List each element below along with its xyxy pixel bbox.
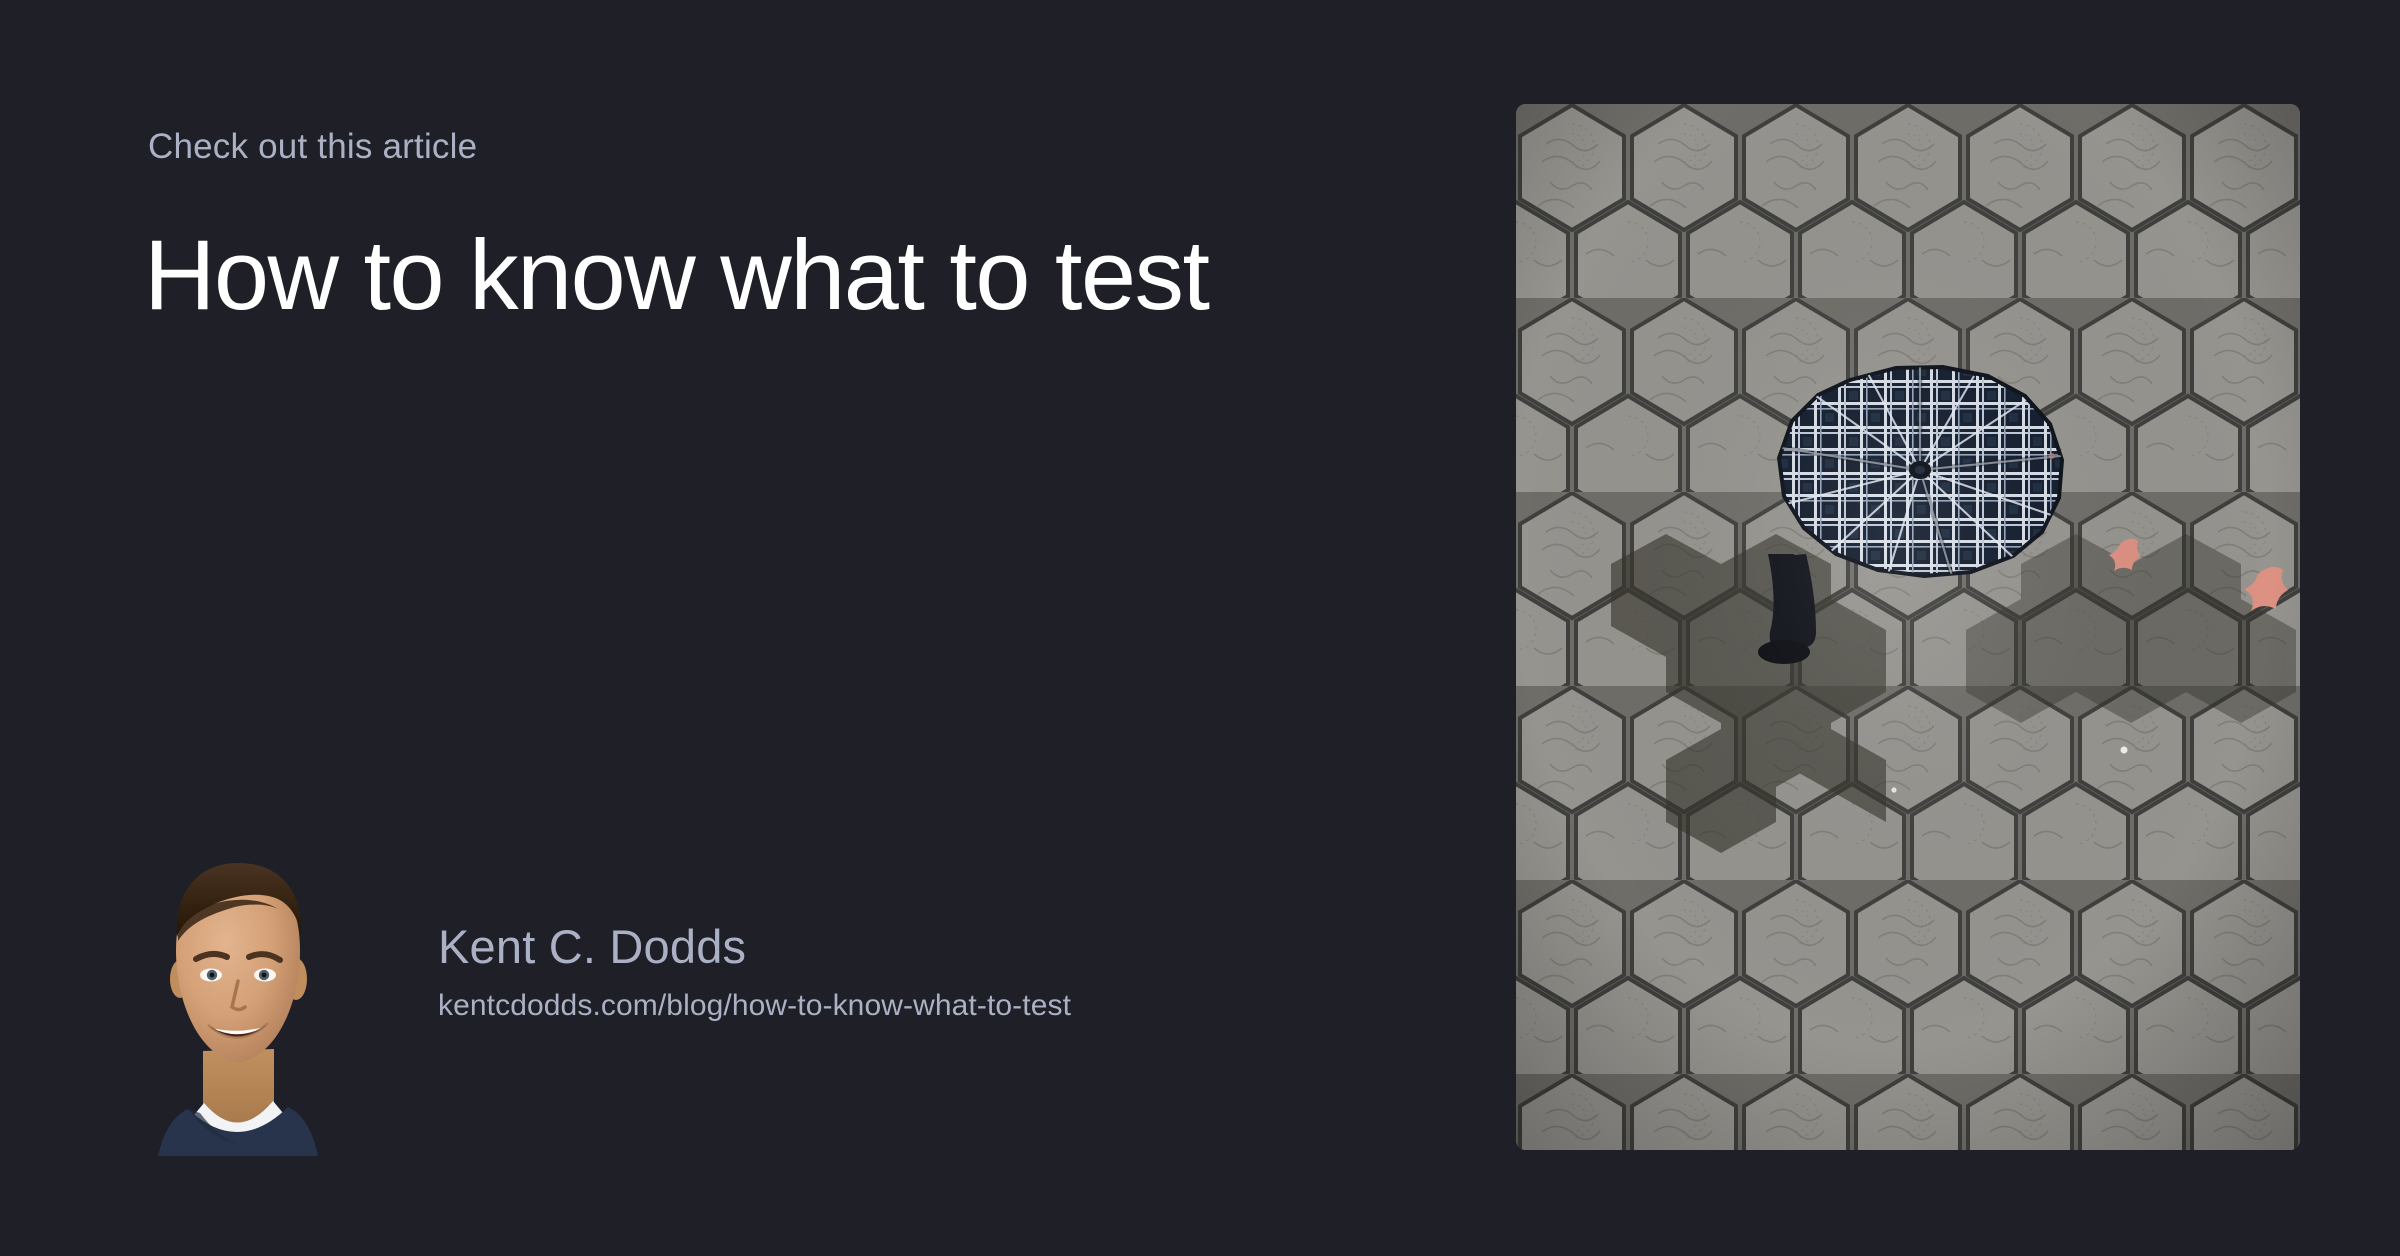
author-text: Kent C. Dodds kentcdodds.com/blog/how-to… bbox=[438, 920, 1338, 1024]
author-name: Kent C. Dodds bbox=[438, 920, 1338, 974]
text-column: Check out this article How to know what … bbox=[148, 0, 1448, 1256]
eyebrow-label: Check out this article bbox=[148, 126, 477, 168]
page-title: How to know what to test bbox=[144, 223, 1209, 327]
author-block: Kent C. Dodds kentcdodds.com/blog/how-to… bbox=[148, 840, 1448, 1160]
author-url: kentcdodds.com/blog/how-to-know-what-to-… bbox=[438, 988, 1338, 1024]
article-cover-photo bbox=[1516, 104, 2300, 1150]
avatar bbox=[148, 851, 328, 1156]
social-share-card: Check out this article How to know what … bbox=[0, 0, 2400, 1256]
